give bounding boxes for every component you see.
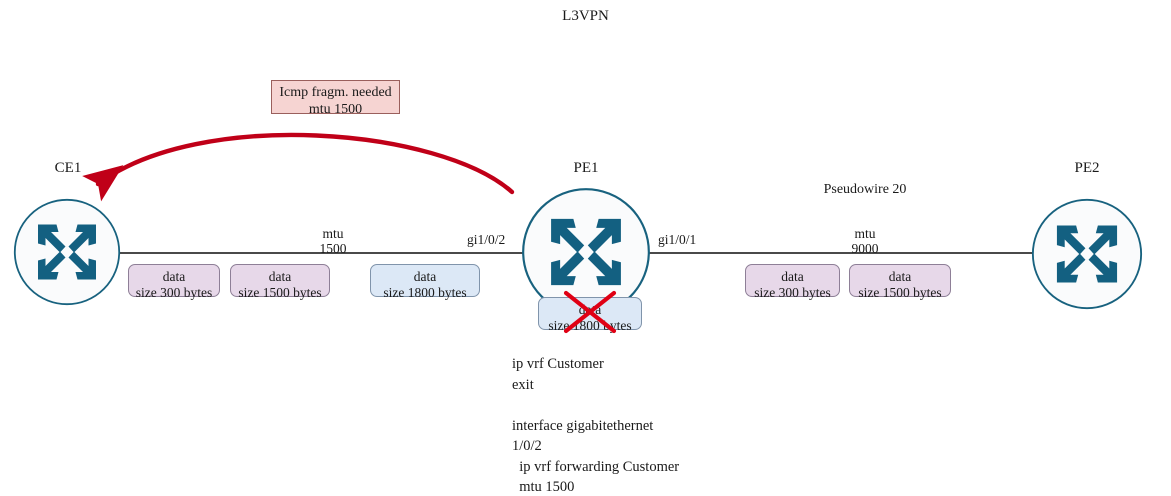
pe1-config-snippet: ip vrf Customer exit interface gigabitet… <box>512 354 679 496</box>
link-pe1-pe2-mtu-line1: mtu <box>825 226 905 241</box>
node-pe1-label-text: PE1 <box>521 160 651 177</box>
node-pe2-label: PE2 <box>1031 160 1143 177</box>
icmp-notice-line2: mtu 1500 <box>272 102 399 119</box>
packet-pe1-pe2-1500: data size 1500 bytes <box>849 264 951 297</box>
packet-ce1-pe1-1500: data size 1500 bytes <box>230 264 330 297</box>
packet-label-line2: size 300 bytes <box>746 285 839 301</box>
link-pe1-pe2-mtu-line2: 9000 <box>825 241 905 256</box>
packet-pe1-pe2-300: data size 300 bytes <box>745 264 840 297</box>
interface-label-gi1-0-1: gi1/0/1 <box>658 232 696 248</box>
node-ce1-label-text: CE1 <box>14 160 122 177</box>
packet-ce1-pe1-1800: data size 1800 bytes <box>370 264 480 297</box>
packet-label-line2: size 1800 bytes <box>539 318 641 334</box>
packet-label-line1: data <box>850 269 950 285</box>
network-diagram-canvas: L3VPN CE1 PE1 <box>0 0 1171 496</box>
interface-label-gi1-0-2: gi1/0/2 <box>467 232 505 248</box>
link-ce1-pe1-mtu-line1: mtu <box>293 226 373 241</box>
router-icon-ce1 <box>13 198 121 306</box>
packet-label-line1: data <box>371 269 479 285</box>
packet-label-line2: size 1500 bytes <box>231 285 329 301</box>
packet-label-line1: data <box>539 302 641 318</box>
node-pe1-label: PE1 <box>521 160 651 177</box>
link-pe1-pe2-mtu: mtu 9000 <box>825 226 905 256</box>
packet-label-line1: data <box>129 269 219 285</box>
packet-label-line1: data <box>746 269 839 285</box>
router-pe2[interactable] <box>1031 198 1143 310</box>
pseudowire-label: Pseudowire 20 <box>790 182 940 198</box>
router-ce1[interactable] <box>13 198 121 306</box>
packet-label-line2: size 1800 bytes <box>371 285 479 301</box>
packet-label-line2: size 300 bytes <box>129 285 219 301</box>
packet-label-line1: data <box>231 269 329 285</box>
packet-label-line2: size 1500 bytes <box>850 285 950 301</box>
node-ce1-label: CE1 <box>14 160 122 177</box>
link-ce1-pe1-mtu: mtu 1500 <box>293 226 373 256</box>
router-icon-pe2 <box>1031 198 1143 310</box>
diagram-title: L3VPN <box>0 8 1171 25</box>
icmp-notice-line1: Icmp fragm. needed <box>272 85 399 102</box>
icmp-fragmentation-notice: Icmp fragm. needed mtu 1500 <box>271 80 400 114</box>
link-ce1-pe1-mtu-line2: 1500 <box>293 241 373 256</box>
packet-pe1-blocked-1800: data size 1800 bytes <box>538 297 642 330</box>
packet-ce1-pe1-300: data size 300 bytes <box>128 264 220 297</box>
node-pe2-label-text: PE2 <box>1031 160 1143 177</box>
